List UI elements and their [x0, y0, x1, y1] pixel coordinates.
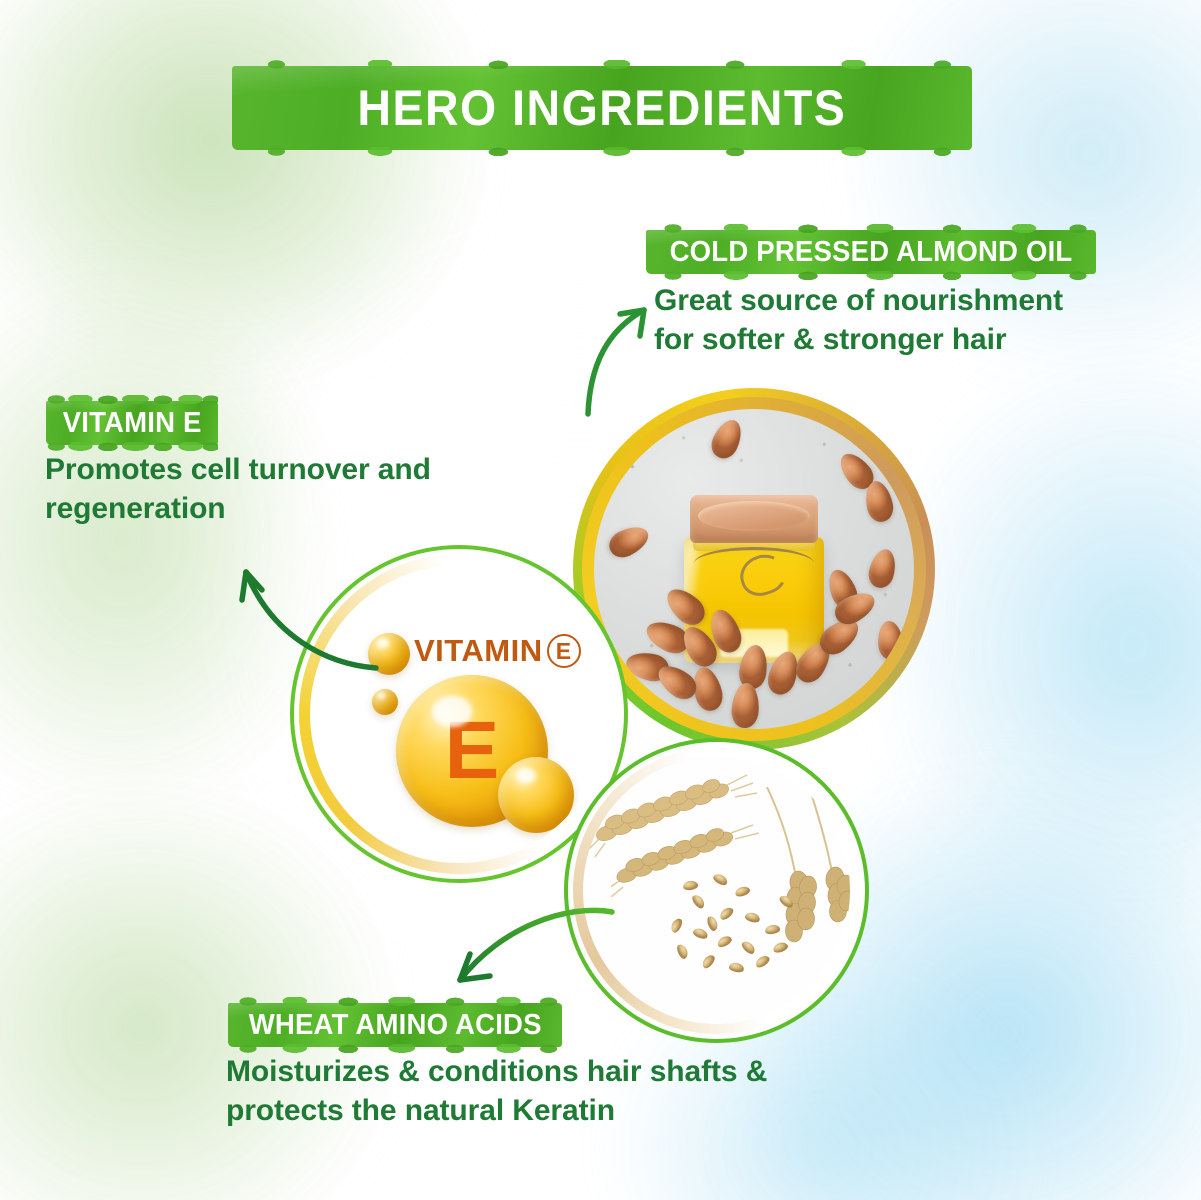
wheat-grain — [728, 962, 745, 974]
wheat-grain — [706, 915, 720, 932]
almond-oil-photo — [573, 388, 935, 750]
vitamin-e-heading-banner: VITAMIN E — [46, 401, 218, 445]
wheat-grain — [716, 934, 733, 949]
vitamin-graphic-disc: VITAMIN E E — [310, 565, 608, 863]
page-title-banner: HERO INGREDIENTS — [232, 66, 972, 150]
wheat-photo-disc — [583, 757, 850, 1024]
wheat-grain — [669, 917, 684, 934]
vitamin-e-description: Promotes cell turnover and regeneration — [45, 450, 431, 528]
wheat-photo — [568, 742, 865, 1039]
vitamin-e-badge: E — [547, 634, 581, 668]
vitamin-word: VITAMIN — [414, 633, 543, 669]
green-wash-left — [0, 250, 330, 890]
infographic-canvas: HERO INGREDIENTS COLD PRESSED ALMOND OIL… — [0, 0, 1201, 1200]
wheat-grain — [718, 905, 735, 922]
almond-oil-heading-banner: COLD PRESSED ALMOND OIL — [646, 230, 1096, 274]
wheat-grain — [692, 927, 709, 941]
jar-wooden-lid — [690, 495, 818, 543]
wheat-amino-acids-description: Moisturizes & conditions hair shafts & p… — [226, 1052, 767, 1130]
wheat-amino-acids-heading: WHEAT AMINO ACIDS — [249, 1009, 542, 1042]
oil-droplet-tiny — [372, 689, 398, 715]
oil-droplet-small — [368, 633, 410, 675]
vitamin-e-graphic-label: VITAMIN E — [414, 633, 581, 669]
almond-oil-description: Great source of nourishment for softer &… — [654, 281, 1063, 359]
almond-photo-disc — [594, 409, 914, 729]
oil-droplet-medium — [498, 757, 574, 833]
almond-oil-heading: COLD PRESSED ALMOND OIL — [670, 236, 1073, 269]
wheat-grain — [675, 943, 689, 960]
vitamin-e-droplet-graphic: VITAMIN E E — [294, 549, 624, 879]
wheat-amino-acids-heading-banner: WHEAT AMINO ACIDS — [228, 1003, 562, 1047]
wheat-grain — [700, 953, 717, 970]
vitamin-e-heading: VITAMIN E — [63, 407, 202, 440]
page-title: HERO INGREDIENTS — [358, 79, 847, 137]
